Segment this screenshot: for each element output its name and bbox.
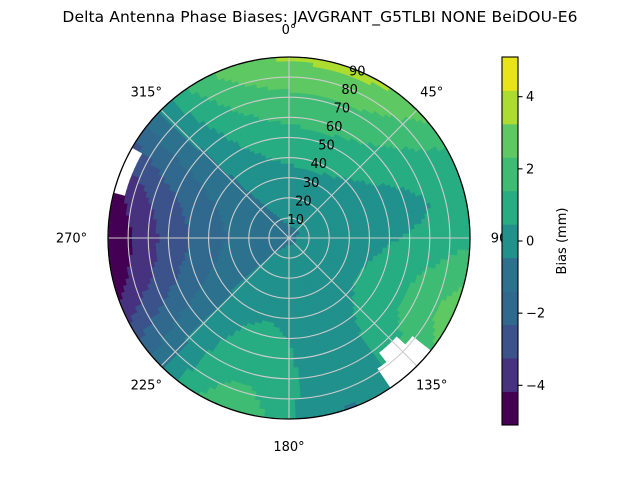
figure-canvas: Delta Antenna Phase Biases: JAVGRANT_G5T… (0, 0, 640, 480)
